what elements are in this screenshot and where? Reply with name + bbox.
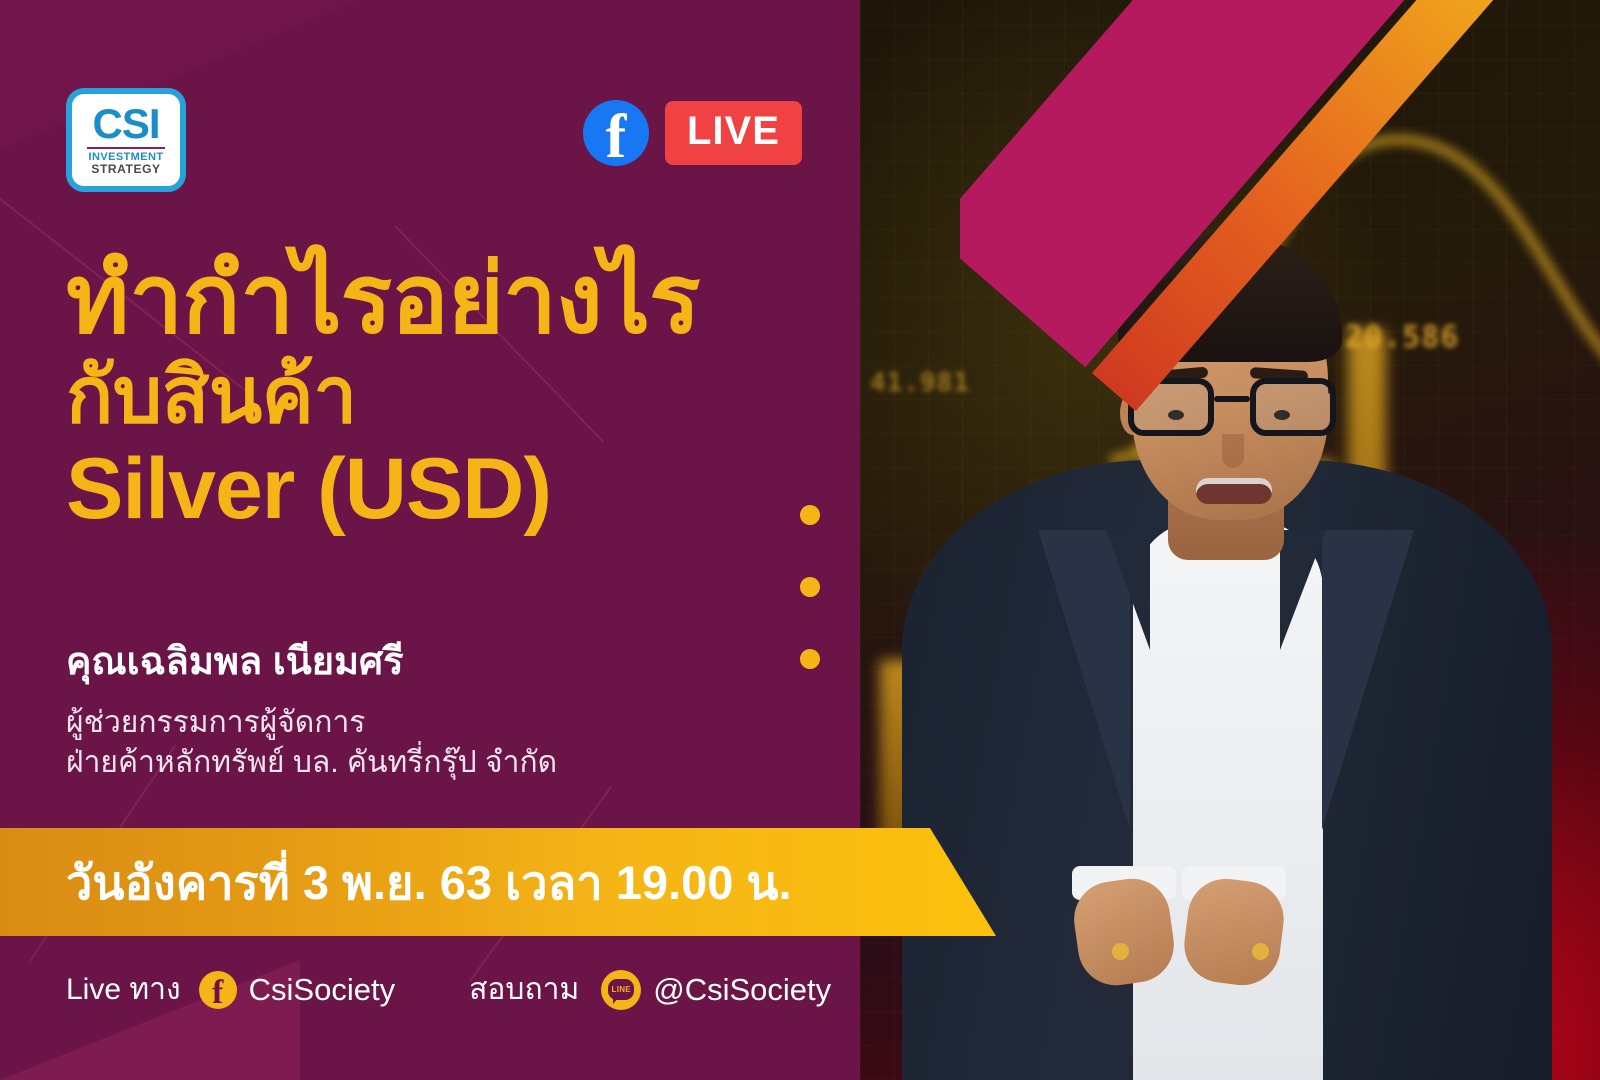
headline-block: ทำกำไรอย่างไร กับสินค้า Silver (USD) xyxy=(66,252,866,541)
live-channel-label: Live ทาง xyxy=(66,966,181,1013)
facebook-live-badge[interactable]: f LIVE xyxy=(583,100,802,166)
lapel-right xyxy=(1322,530,1414,830)
line-app-icon[interactable]: LINE xyxy=(601,970,641,1010)
collar-left xyxy=(1106,530,1150,650)
line-badge-text: LINE xyxy=(612,985,631,994)
dot-decoration xyxy=(800,505,820,669)
facebook-icon[interactable]: f xyxy=(199,971,237,1009)
date-time-text: วันอังคารที่ 3 พ.ย. 63 เวลา 19.00 น. xyxy=(66,845,792,920)
speaker-role-line-2: ฝ่ายค้าหลักทรัพย์ บล. คันทรี่กรุ๊ป จำกัด xyxy=(66,743,557,783)
collar-right xyxy=(1280,530,1326,650)
ring-left xyxy=(1112,943,1129,960)
headline-line-3: Silver (USD) xyxy=(66,439,866,540)
footer-social-row: Live ทาง f CsiSociety สอบถาม LINE @CsiSo… xyxy=(66,966,831,1013)
speaker-role-line-1: ผู้ช่วยกรรมการผู้จัดการ xyxy=(66,703,557,743)
facebook-f-icon[interactable]: f xyxy=(583,100,649,166)
dot-2 xyxy=(800,577,820,597)
line-handle[interactable]: @CsiSociety xyxy=(653,972,831,1008)
speaker-info: คุณเฉลิมพล เนียมศรี ผู้ช่วยกรรมการผู้จัด… xyxy=(66,630,557,782)
logo-strategy-text: STRATEGY xyxy=(91,163,160,176)
live-label: LIVE xyxy=(665,101,802,165)
dot-1 xyxy=(800,505,820,525)
facebook-handle[interactable]: CsiSociety xyxy=(249,972,395,1008)
dot-3 xyxy=(800,649,820,669)
corner-ribbon xyxy=(960,0,1600,520)
logo-csi-text: CSI xyxy=(92,104,159,144)
logo-divider xyxy=(87,147,165,149)
facebook-f-glyph-small: f xyxy=(212,978,223,1009)
date-time-banner: วันอังคารที่ 3 พ.ย. 63 เวลา 19.00 น. xyxy=(0,828,1000,936)
ring-right xyxy=(1252,943,1269,960)
headline-line-2: กับสินค้า xyxy=(66,348,866,443)
csi-logo[interactable]: CSI INVESTMENT STRATEGY xyxy=(66,88,186,192)
contact-label: สอบถาม xyxy=(469,966,579,1013)
speaker-name: คุณเฉลิมพล เนียมศรี xyxy=(66,630,557,691)
headline-line-1: ทำกำไรอย่างไร xyxy=(66,252,866,348)
promo-poster: 20.586 41.981 xyxy=(0,0,1600,1080)
facebook-f-glyph: f xyxy=(606,109,627,166)
